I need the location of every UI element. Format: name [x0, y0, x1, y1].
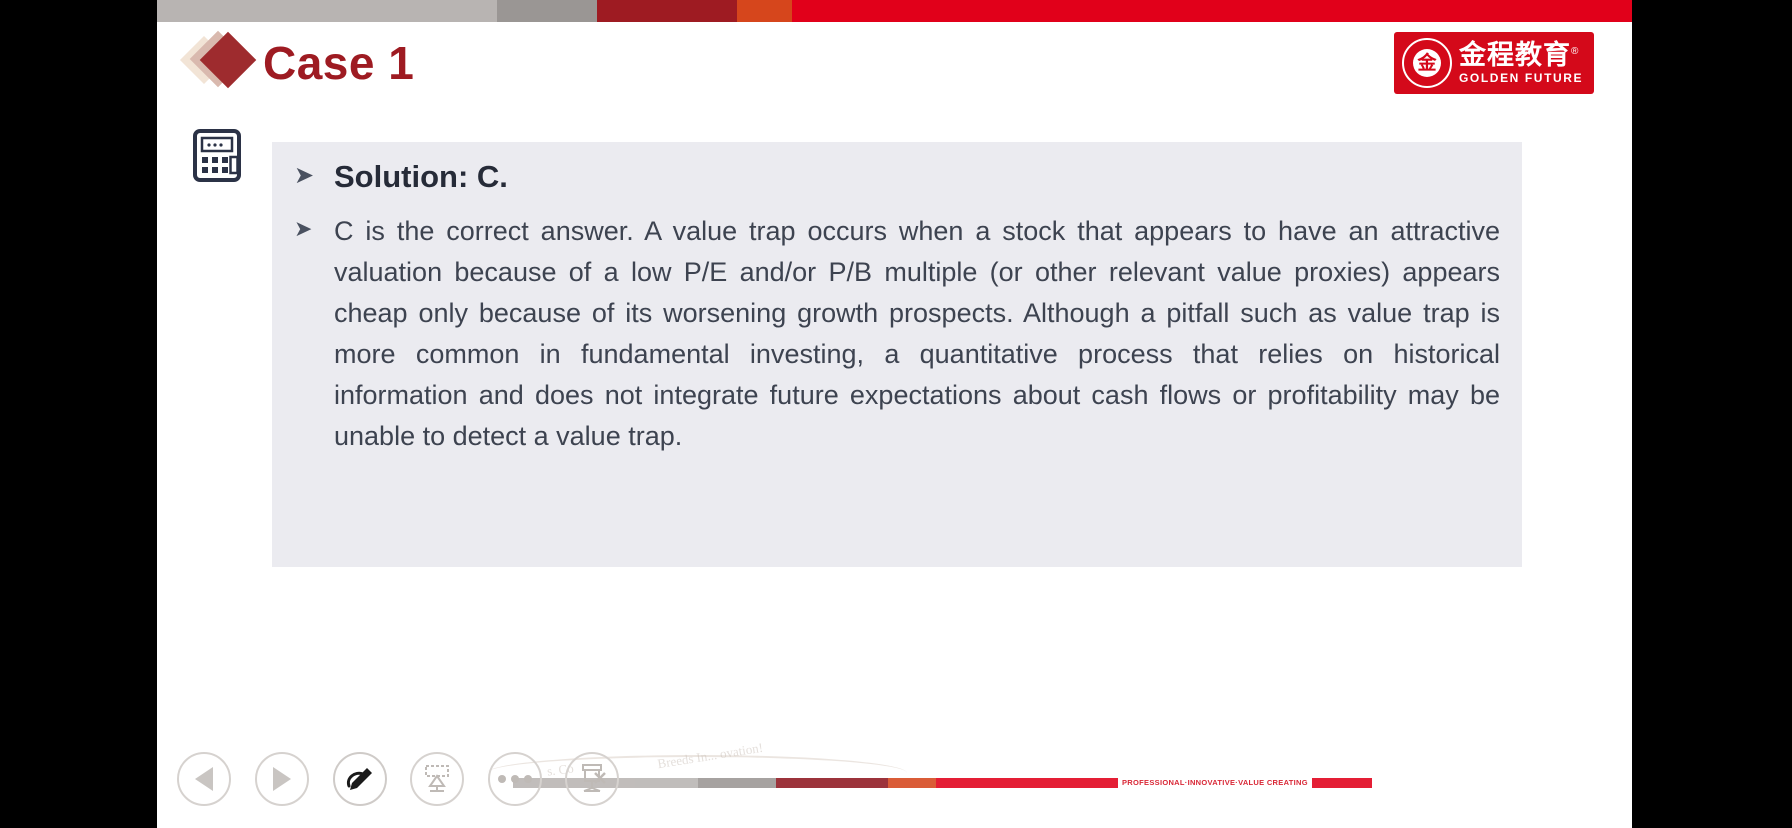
pen-annotate-button[interactable]	[333, 752, 387, 806]
slide-header: Case 1 金 金程教育® GOLDEN FUTURE	[157, 22, 1632, 100]
calculator-icon	[192, 128, 242, 183]
page-title: Case 1	[263, 36, 414, 90]
presentation-slide: Case 1 金 金程教育® GOLDEN FUTURE	[157, 0, 1632, 828]
topbar-segment-0	[157, 0, 497, 22]
title-block: Case 1	[185, 27, 414, 99]
solution-body-row: ➤ C is the correct answer. A value trap …	[294, 211, 1500, 457]
brand-english-name: GOLDEN FUTURE	[1459, 71, 1583, 85]
previous-slide-button[interactable]	[177, 752, 231, 806]
brand-text: 金程教育® GOLDEN FUTURE	[1459, 41, 1583, 85]
end-presentation-button[interactable]	[565, 752, 619, 806]
pen-icon	[343, 762, 377, 796]
brand-chinese-label: 金程教育	[1459, 40, 1571, 70]
letterbox-right	[1632, 0, 1792, 828]
screen: Case 1 金 金程教育® GOLDEN FUTURE	[0, 0, 1792, 828]
triangle-left-icon	[195, 767, 213, 791]
laser-pointer-button[interactable]	[410, 752, 464, 806]
top-decorative-bar	[157, 0, 1632, 22]
brand-seal-glyph: 金	[1413, 49, 1441, 77]
next-slide-button[interactable]	[255, 752, 309, 806]
brand-seal-icon: 金	[1402, 38, 1452, 88]
solution-body-text: C is the correct answer. A value trap oc…	[334, 211, 1500, 457]
arrow-bullet-icon: ➤	[294, 158, 334, 188]
registered-mark-icon: ®	[1571, 46, 1579, 57]
projector-off-icon	[574, 761, 610, 797]
ellipsis-icon	[498, 775, 532, 783]
arrow-bullet-icon: ➤	[294, 211, 334, 240]
brand-logo: 金 金程教育® GOLDEN FUTURE	[1394, 32, 1594, 94]
solution-heading: Solution: C.	[334, 158, 508, 195]
topbar-segment-4	[792, 0, 1632, 22]
solution-heading-row: ➤ Solution: C.	[294, 158, 1500, 195]
more-options-button[interactable]	[488, 752, 542, 806]
diamond-logo-icon	[185, 27, 257, 99]
topbar-segment-1	[497, 0, 597, 22]
content-box: ➤ Solution: C. ➤ C is the correct answer…	[272, 142, 1522, 567]
triangle-right-icon	[273, 767, 291, 791]
brand-chinese-name: 金程教育®	[1459, 41, 1583, 69]
presenter-toolbar	[157, 748, 1632, 814]
topbar-segment-3	[737, 0, 792, 22]
spotlight-icon	[420, 762, 454, 796]
letterbox-left	[0, 0, 157, 828]
topbar-segment-2	[597, 0, 737, 22]
